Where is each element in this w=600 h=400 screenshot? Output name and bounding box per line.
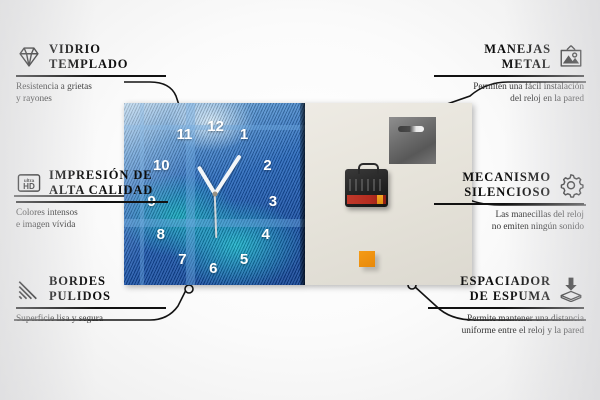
callout-sub-line2: uniforme entre el reloj y la pared [428, 325, 584, 338]
diagonal-lines-icon [16, 276, 42, 302]
clock-numeral: 7 [178, 252, 186, 267]
callout-sub-line1: Resistencia a grietas [16, 81, 166, 94]
silent-clock-mechanism [345, 169, 388, 207]
callout-divider [16, 307, 166, 309]
clock-numeral: 11 [176, 127, 192, 142]
ultra-hd-big-text: HD [23, 182, 35, 191]
callout-sub-line2: e imagen vívida [16, 219, 168, 232]
clock-numeral: 6 [209, 261, 217, 276]
callout-title-line1: ESPACIADOR [460, 274, 551, 289]
callout-divider [434, 203, 584, 205]
metal-hanger-plate [389, 117, 436, 164]
hanging-picture-icon [558, 44, 584, 70]
callout-hd-print: ultra HD IMPRESIÓN DE ALTA CALIDAD Color… [16, 168, 168, 232]
callout-title-line1: BORDES [49, 274, 111, 289]
callout-sub-line1: Permite mantener una distancia [428, 313, 584, 326]
foam-spacer [359, 251, 375, 267]
callout-sub-line2: no emiten ningún sonido [434, 221, 584, 234]
callout-metal-handles: MANEJAS METAL Permiten una fácil instala… [434, 42, 584, 106]
callout-sub-line2: y rayones [16, 93, 166, 106]
callout-divider [16, 75, 166, 77]
callout-sub-line1: Superficie lisa y segura [16, 313, 166, 326]
callout-title-line2: METAL [484, 57, 551, 72]
callout-sub-line2: del reloj en la pared [434, 93, 584, 106]
callout-polished-edges: BORDES PULIDOS Superficie lisa y segura [16, 274, 166, 325]
product-image: 12 1 2 3 4 5 6 7 8 9 10 11 [124, 103, 472, 285]
clock-numeral: 5 [240, 252, 248, 267]
callout-title-line1: IMPRESIÓN DE [49, 168, 153, 183]
callout-divider [434, 75, 584, 77]
infographic-canvas: 12 1 2 3 4 5 6 7 8 9 10 11 [0, 0, 600, 400]
callout-sub-line1: Permiten una fácil instalación [434, 81, 584, 94]
ultra-hd-icon: ultra HD [16, 170, 42, 196]
callout-title-line1: MANEJAS [484, 42, 551, 57]
callout-title-line1: VIDRIO [49, 42, 128, 57]
callout-title-line2: ALTA CALIDAD [49, 183, 153, 198]
clock-numeral: 12 [207, 119, 224, 134]
callout-title-line2: DE ESPUMA [460, 289, 551, 304]
diamond-icon [16, 44, 42, 70]
callout-sub-line1: Las manecillas del reloj [434, 209, 584, 222]
down-arrow-pad-icon [558, 276, 584, 302]
endpoint-polished-edges [185, 285, 193, 293]
callout-title-line2: TEMPLADO [49, 57, 128, 72]
clock-numeral: 4 [262, 227, 270, 242]
callout-foam-spacer: ESPACIADOR DE ESPUMA Permite mantener un… [428, 274, 584, 338]
callout-silent-mechanism: MECANISMO SILENCIOSO Las manecillas del … [434, 170, 584, 234]
hands-center-pin [212, 192, 217, 197]
callout-divider [428, 307, 584, 309]
gear-icon [558, 172, 584, 198]
callout-title-line2: PULIDOS [49, 289, 111, 304]
clock-numeral: 3 [269, 194, 277, 209]
callout-divider [16, 201, 168, 203]
clock-numeral: 2 [263, 158, 271, 173]
callout-sub-line1: Colores intensos [16, 207, 168, 220]
clock-numeral: 1 [240, 127, 248, 142]
callout-title-line1: MECANISMO [462, 170, 551, 185]
callout-tempered-glass: VIDRIO TEMPLADO Resistencia a grietas y … [16, 42, 166, 106]
callout-title-line2: SILENCIOSO [462, 185, 551, 200]
